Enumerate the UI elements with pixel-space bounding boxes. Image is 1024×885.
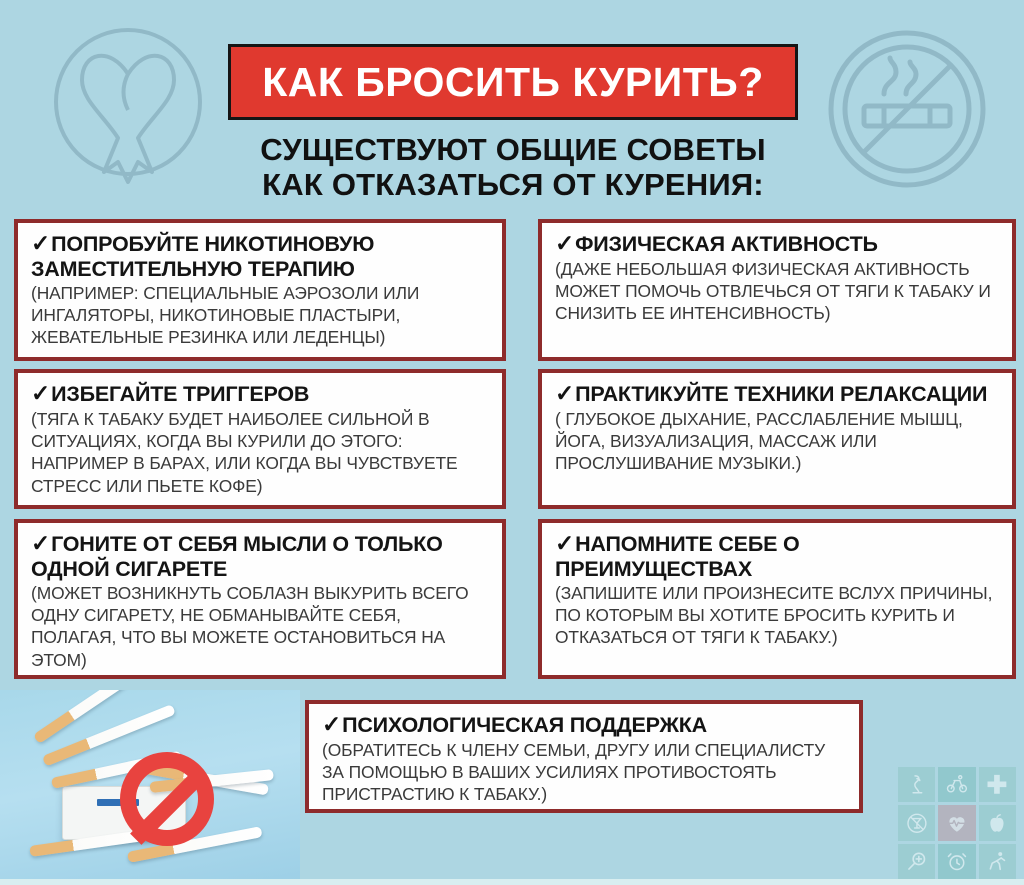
bottom-strip — [0, 879, 1024, 885]
tip-card-body: (ДАЖЕ НЕБОЛЬШАЯ ФИЗИЧЕСКАЯ АКТИВНОСТЬ МО… — [555, 258, 1000, 325]
tip-card-body: (ОБРАТИТЕСЬ К ЧЛЕНУ СЕМЬИ, ДРУГУ ИЛИ СПЕ… — [322, 739, 847, 806]
tip-card-heading-text: ПОПРОБУЙТЕ НИКОТИНОВУЮ ЗАМЕСТИТЕЛЬНУЮ ТЕ… — [31, 232, 374, 281]
tip-card-relaxation-techniques: ✓ПРАКТИКУЙТЕ ТЕХНИКИ РЕЛАКСАЦИИ ( ГЛУБОК… — [538, 369, 1016, 509]
tip-card-heading: ✓ПСИХОЛОГИЧЕСКАЯ ПОДДЕРЖКА — [322, 712, 847, 738]
tip-card-heading-text: НАПОМНИТЕ СЕБЕ О ПРЕИМУЩЕСТВАХ — [555, 532, 800, 581]
health-icon-grid — [898, 767, 1016, 879]
page-title: КАК БРОСИТЬ КУРИТЬ? — [262, 62, 764, 103]
cigarettes-with-prohibition-sign-photo — [0, 690, 300, 885]
subtitle-line-2: КАК ОТКАЗАТЬСЯ ОТ КУРЕНИЯ: — [180, 167, 846, 202]
tip-card-body: (ТЯГА К ТАБАКУ БУДЕТ НАИБОЛЕЕ СИЛЬНОЙ В … — [31, 408, 490, 497]
check-icon: ✓ — [555, 230, 574, 256]
no-smoking-icon — [822, 24, 992, 194]
check-icon: ✓ — [31, 230, 50, 256]
bicycle-icon — [938, 767, 975, 802]
tip-card-heading-text: ПРАКТИКУЙТЕ ТЕХНИКИ РЕЛАКСАЦИИ — [575, 382, 987, 406]
heart-pulse-icon — [938, 805, 975, 840]
poster-subtitle: СУЩЕСТВУЮТ ОБЩИЕ СОВЕТЫ КАК ОТКАЗАТЬСЯ О… — [180, 132, 846, 202]
tip-card-psychological-support: ✓ПСИХОЛОГИЧЕСКАЯ ПОДДЕРЖКА (ОБРАТИТЕСЬ К… — [305, 700, 863, 813]
check-icon: ✓ — [322, 711, 341, 737]
tip-card-heading: ✓ПРАКТИКУЙТЕ ТЕХНИКИ РЕЛАКСАЦИИ — [555, 381, 1000, 407]
no-alcohol-icon — [898, 805, 935, 840]
tip-card-heading: ✓НАПОМНИТЕ СЕБЕ О ПРЕИМУЩЕСТВАХ — [555, 531, 1000, 581]
tip-card-heading-text: ГОНИТЕ ОТ СЕБЯ МЫСЛИ О ТОЛЬКО ОДНОЙ СИГА… — [31, 532, 443, 581]
cigarette — [33, 690, 144, 744]
medical-cross-icon — [979, 767, 1016, 802]
check-icon: ✓ — [31, 530, 50, 556]
magnifier-plus-icon — [898, 844, 935, 879]
tip-card-physical-activity: ✓ФИЗИЧЕСКАЯ АКТИВНОСТЬ (ДАЖЕ НЕБОЛЬШАЯ Ф… — [538, 219, 1016, 361]
tip-card-remind-benefits: ✓НАПОМНИТЕ СЕБЕ О ПРЕИМУЩЕСТВАХ (ЗАПИШИТ… — [538, 519, 1016, 679]
tip-card-body: (ЗАПИШИТЕ ИЛИ ПРОИЗНЕСИТЕ ВСЛУХ ПРИЧИНЫ,… — [555, 582, 1000, 649]
tip-card-body: ( ГЛУБОКОЕ ДЫХАНИЕ, РАССЛАБЛЕНИЕ МЫШЦ, Й… — [555, 408, 1000, 475]
tip-card-heading-text: ПСИХОЛОГИЧЕСКАЯ ПОДДЕРЖКА — [342, 713, 707, 737]
tip-card-just-one-cigarette: ✓ГОНИТЕ ОТ СЕБЯ МЫСЛИ О ТОЛЬКО ОДНОЙ СИГ… — [14, 519, 506, 679]
check-icon: ✓ — [555, 380, 574, 406]
tip-card-heading: ✓ФИЗИЧЕСКАЯ АКТИВНОСТЬ — [555, 231, 1000, 257]
apple-icon — [979, 805, 1016, 840]
tip-card-heading: ✓ИЗБЕГАЙТЕ ТРИГГЕРОВ — [31, 381, 490, 407]
check-icon: ✓ — [31, 380, 50, 406]
check-icon: ✓ — [555, 530, 574, 556]
running-person-icon — [979, 844, 1016, 879]
subtitle-line-1: СУЩЕСТВУЮТ ОБЩИЕ СОВЕТЫ — [180, 132, 846, 167]
tip-card-nicotine-therapy: ✓ПОПРОБУЙТЕ НИКОТИНОВУЮ ЗАМЕСТИТЕЛЬНУЮ Т… — [14, 219, 506, 361]
poster: КАК БРОСИТЬ КУРИТЬ? СУЩЕСТВУЮТ ОБЩИЕ СОВ… — [0, 0, 1024, 885]
bowl-of-hygieia-icon — [898, 767, 935, 802]
tip-card-body: (НАПРИМЕР: СПЕЦИАЛЬНЫЕ АЭРОЗОЛИ ИЛИ ИНГА… — [31, 282, 490, 349]
alarm-clock-icon — [938, 844, 975, 879]
tip-card-avoid-triggers: ✓ИЗБЕГАЙТЕ ТРИГГЕРОВ (ТЯГА К ТАБАКУ БУДЕ… — [14, 369, 506, 509]
prohibition-sign — [120, 752, 214, 846]
poster-title-bar: КАК БРОСИТЬ КУРИТЬ? — [228, 44, 798, 120]
tip-card-heading-text: ФИЗИЧЕСКАЯ АКТИВНОСТЬ — [575, 232, 878, 256]
tip-card-heading: ✓ГОНИТЕ ОТ СЕБЯ МЫСЛИ О ТОЛЬКО ОДНОЙ СИГ… — [31, 531, 490, 581]
tip-card-body: (МОЖЕТ ВОЗНИКНУТЬ СОБЛАЗН ВЫКУРИТЬ ВСЕГО… — [31, 582, 490, 671]
tip-card-heading-text: ИЗБЕГАЙТЕ ТРИГГЕРОВ — [51, 382, 309, 406]
tip-card-heading: ✓ПОПРОБУЙТЕ НИКОТИНОВУЮ ЗАМЕСТИТЕЛЬНУЮ Т… — [31, 231, 490, 281]
